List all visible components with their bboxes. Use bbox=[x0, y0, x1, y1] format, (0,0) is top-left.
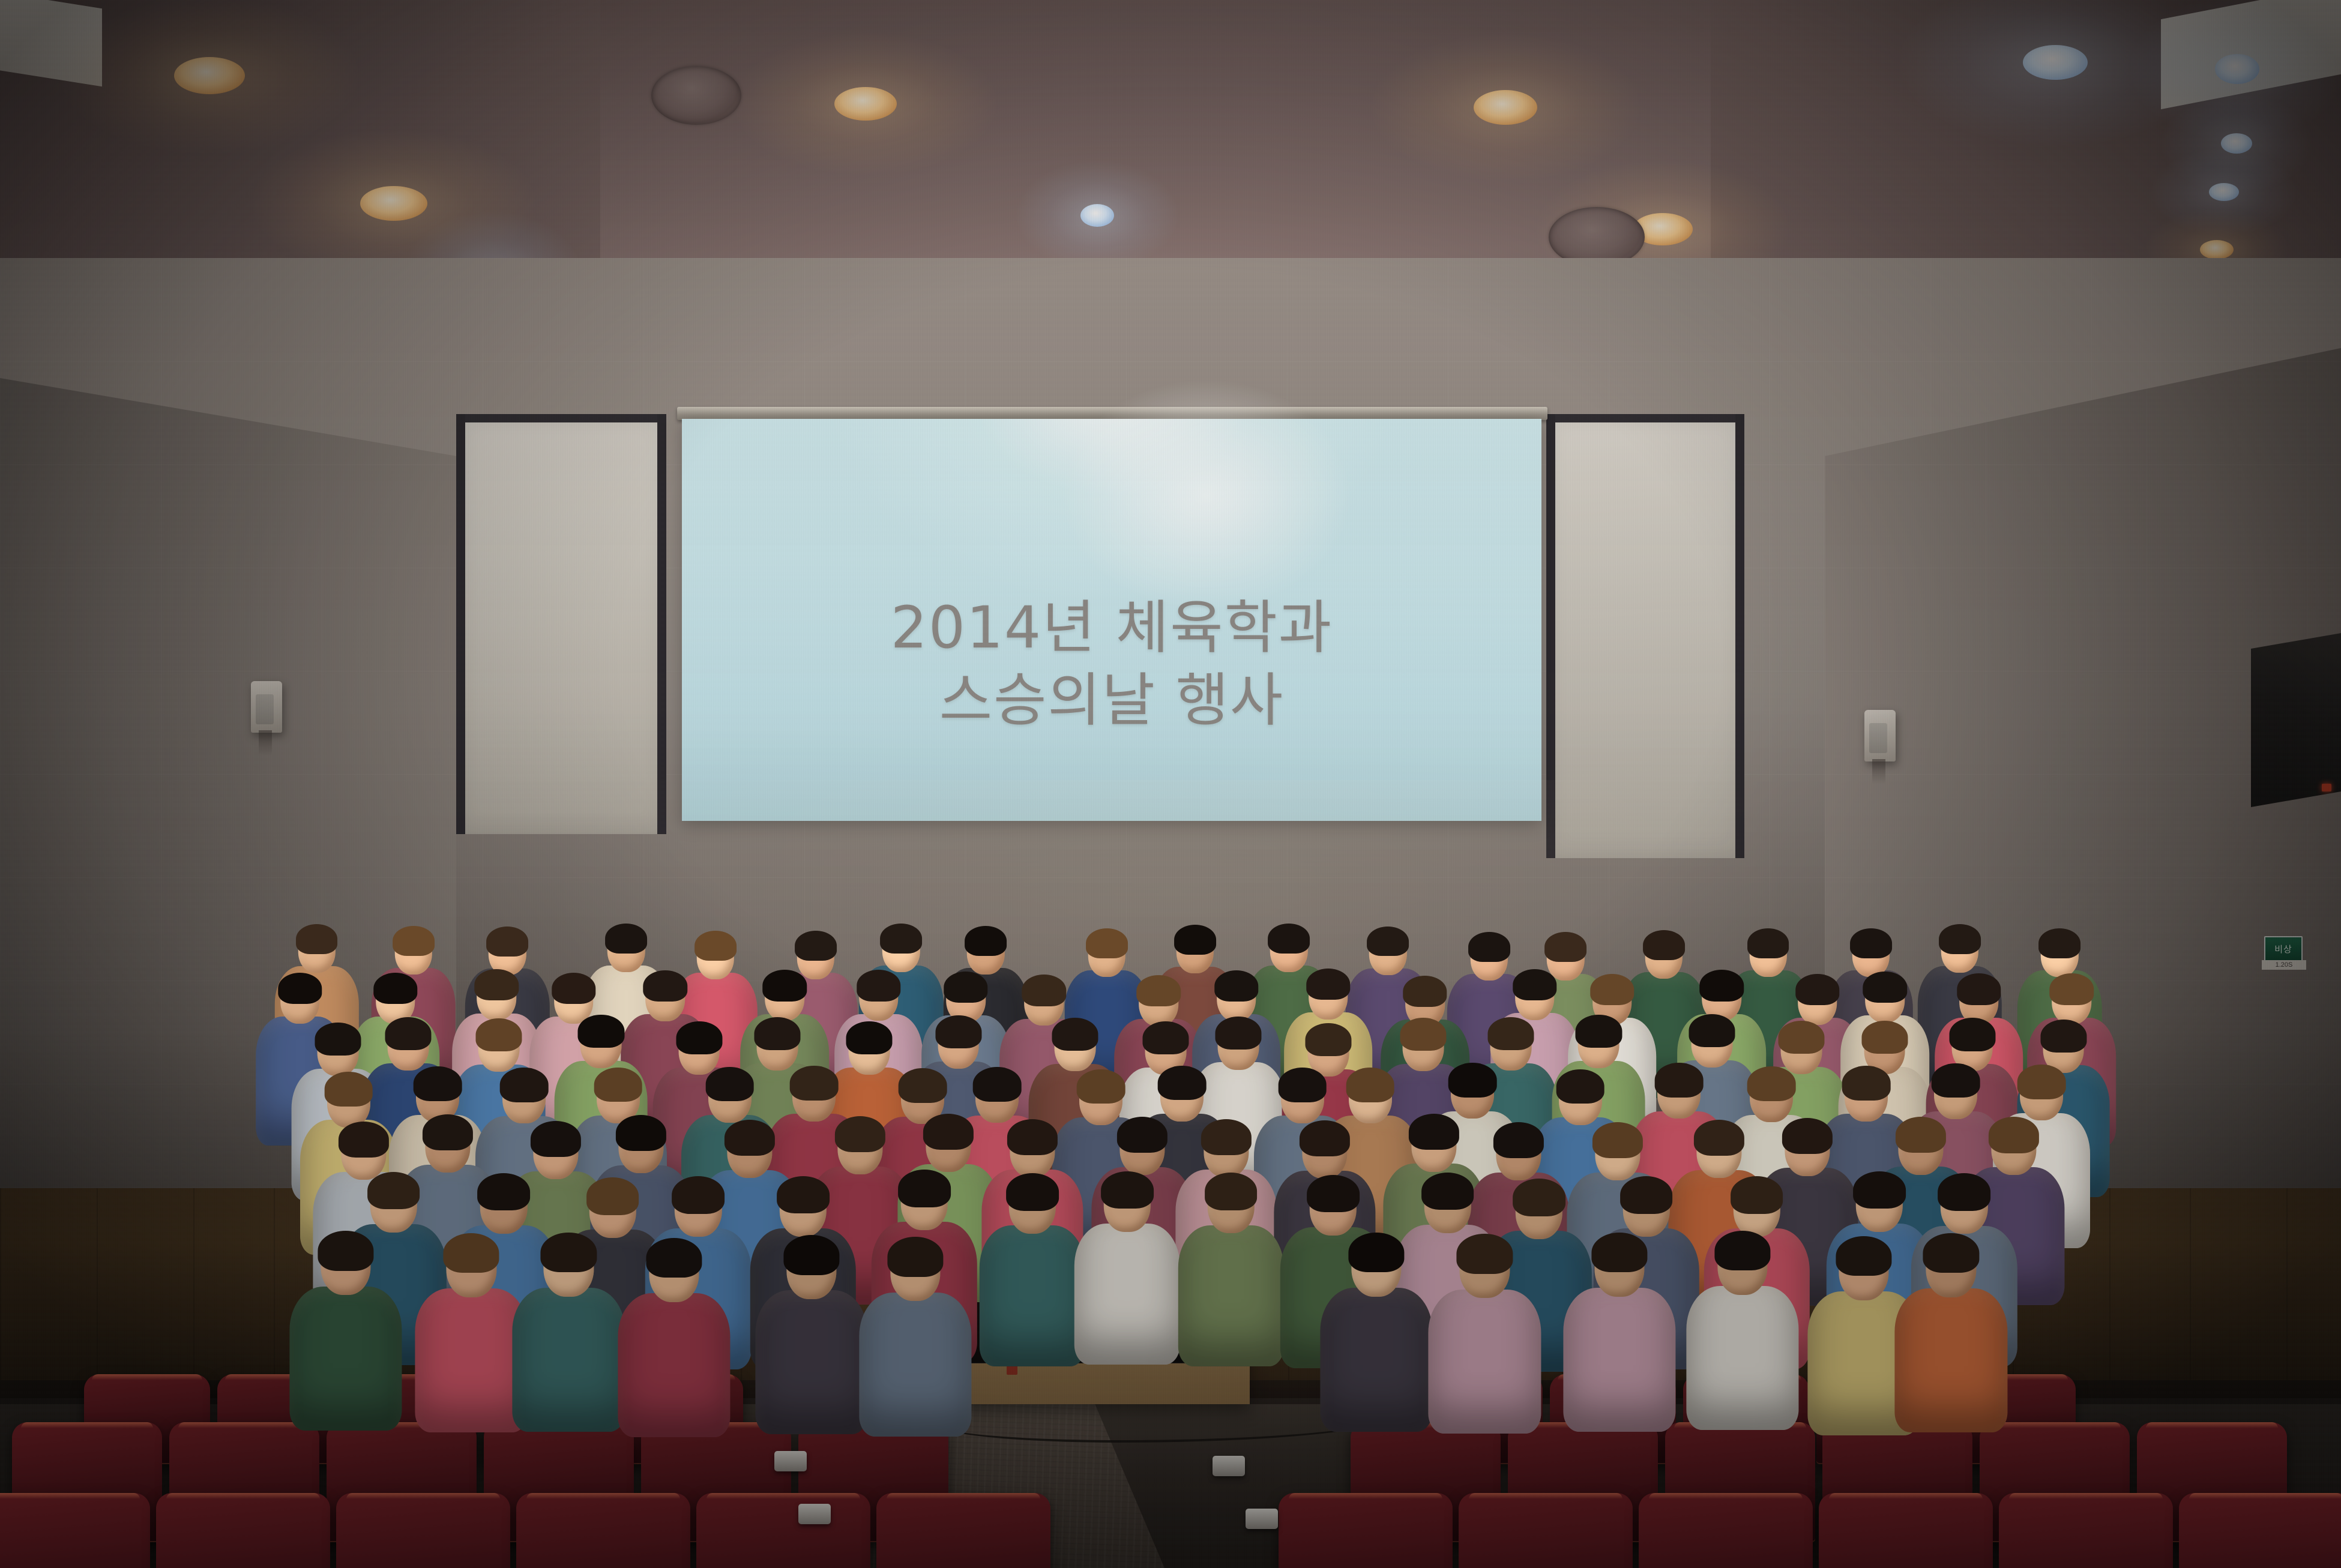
person-hair bbox=[1300, 1120, 1350, 1156]
person-hair bbox=[1592, 1122, 1642, 1158]
person-hair bbox=[646, 1238, 702, 1278]
person bbox=[289, 1233, 402, 1377]
person-hair bbox=[1513, 1179, 1565, 1216]
person-hair bbox=[1346, 1068, 1394, 1102]
person-hair bbox=[1488, 1017, 1534, 1050]
person-torso bbox=[1429, 1290, 1541, 1434]
person-hair bbox=[541, 1233, 597, 1273]
auditorium-seat[interactable] bbox=[1639, 1493, 1813, 1568]
person-hair bbox=[1850, 928, 1892, 958]
person-hair bbox=[393, 926, 435, 956]
auditorium-seat[interactable] bbox=[0, 1493, 150, 1568]
person-torso bbox=[860, 1293, 972, 1437]
person-hair bbox=[2017, 1065, 2066, 1099]
projection-screen-roller bbox=[677, 407, 1547, 420]
ceiling-downlight-1 bbox=[174, 57, 245, 94]
person-hair bbox=[923, 1114, 974, 1150]
person-hair bbox=[857, 970, 900, 1001]
person-hair bbox=[1214, 970, 1258, 1002]
person bbox=[980, 1175, 1085, 1316]
slide-line-2: 스승의날 행사 bbox=[682, 665, 1541, 736]
person-hair bbox=[1836, 1236, 1891, 1276]
person bbox=[755, 1237, 867, 1381]
downlight-core bbox=[2023, 45, 2088, 80]
person-hair bbox=[1655, 1063, 1704, 1098]
person-hair bbox=[643, 970, 687, 1002]
person-hair bbox=[586, 1177, 639, 1215]
person-hair bbox=[1201, 1119, 1252, 1155]
person-hair bbox=[476, 1018, 522, 1051]
person bbox=[860, 1239, 972, 1383]
person-torso bbox=[755, 1290, 867, 1434]
person-hair bbox=[2040, 1020, 2086, 1053]
person-hair bbox=[1863, 972, 1906, 1003]
person-hair bbox=[1896, 1117, 1946, 1153]
ceiling-downlight-17 bbox=[2209, 183, 2239, 201]
person-hair bbox=[725, 1120, 775, 1156]
person-hair bbox=[318, 1231, 373, 1271]
person-hair bbox=[414, 1066, 462, 1101]
ceiling-downlight-14 bbox=[2023, 45, 2088, 80]
person-hair bbox=[795, 931, 837, 961]
person bbox=[1429, 1236, 1541, 1380]
person-hair bbox=[888, 1237, 944, 1277]
person-hair bbox=[385, 1017, 431, 1050]
person-hair bbox=[935, 1015, 981, 1048]
person-hair bbox=[672, 1176, 725, 1214]
seat-armrest bbox=[798, 1504, 831, 1524]
person-hair bbox=[1077, 1069, 1125, 1104]
person-hair bbox=[1592, 1233, 1648, 1273]
person-hair bbox=[1400, 1018, 1446, 1051]
person-hair bbox=[1513, 969, 1556, 1000]
seat-armrest bbox=[774, 1451, 807, 1471]
person-hair bbox=[605, 924, 647, 954]
person-hair bbox=[1699, 970, 1743, 1001]
person-hair bbox=[1747, 928, 1789, 958]
person-hair bbox=[846, 1021, 892, 1054]
person-hair bbox=[324, 1072, 373, 1107]
person-hair bbox=[1142, 1021, 1189, 1054]
person-hair bbox=[1348, 1233, 1404, 1273]
person-hair bbox=[315, 1023, 361, 1056]
person-hair bbox=[1689, 1014, 1735, 1047]
person-hair bbox=[1367, 927, 1409, 957]
ceiling-downlight-7 bbox=[1080, 204, 1114, 227]
person-hair bbox=[531, 1121, 581, 1157]
person-hair bbox=[694, 931, 737, 961]
person-hair bbox=[1136, 975, 1180, 1006]
person-hair bbox=[616, 1115, 666, 1151]
person-hair bbox=[552, 973, 595, 1004]
person-hair bbox=[1620, 1176, 1673, 1214]
person-hair bbox=[478, 1173, 531, 1211]
person-hair bbox=[1086, 928, 1128, 958]
person-hair bbox=[1457, 1234, 1513, 1274]
downlight-core bbox=[834, 87, 897, 121]
downlight-core bbox=[360, 186, 427, 221]
person-hair bbox=[1409, 1114, 1459, 1150]
person-hair bbox=[1556, 1069, 1604, 1104]
ceiling-downlight-15 bbox=[2215, 54, 2259, 84]
person-hair bbox=[754, 1017, 800, 1050]
person-hair bbox=[1939, 924, 1981, 954]
auditorium-seat[interactable] bbox=[336, 1493, 510, 1568]
ceiling-downlight-10 bbox=[1474, 90, 1537, 125]
person-hair bbox=[1842, 1066, 1891, 1101]
person-hair bbox=[1989, 1117, 2039, 1153]
seat-armrest bbox=[1213, 1456, 1245, 1476]
person-torso bbox=[415, 1288, 528, 1432]
person-hair bbox=[762, 970, 806, 1001]
person-torso bbox=[1564, 1288, 1676, 1432]
person-hair bbox=[578, 1015, 624, 1048]
person-torso bbox=[1074, 1224, 1180, 1365]
person-hair bbox=[1174, 925, 1216, 955]
person-hair bbox=[500, 1068, 549, 1102]
auditorium-seat[interactable] bbox=[1819, 1493, 1993, 1568]
person-hair bbox=[1006, 1173, 1059, 1211]
person-hair bbox=[1205, 1173, 1258, 1210]
downlight-core bbox=[174, 57, 245, 94]
person-hair bbox=[1403, 976, 1447, 1007]
downlight-core bbox=[2200, 240, 2234, 259]
person-torso bbox=[513, 1288, 625, 1432]
person-hair bbox=[1938, 1173, 1990, 1211]
person-hair bbox=[1643, 930, 1685, 960]
person-hair bbox=[1215, 1017, 1261, 1050]
projection-screen: 2014년 체육학과 스승의날 행사 bbox=[682, 419, 1541, 821]
person-torso bbox=[618, 1293, 730, 1437]
downlight-core bbox=[1474, 90, 1537, 125]
ceiling-downlight-2 bbox=[360, 186, 427, 221]
person-torso bbox=[1178, 1225, 1283, 1366]
person-hair bbox=[1861, 1021, 1908, 1054]
person-hair bbox=[1544, 932, 1586, 962]
person-hair bbox=[1731, 1176, 1783, 1214]
person-torso bbox=[289, 1287, 402, 1431]
person-torso bbox=[980, 1225, 1085, 1366]
group-photo-crowd bbox=[0, 780, 2341, 1404]
person-hair bbox=[1101, 1171, 1154, 1209]
person-hair bbox=[373, 973, 417, 1004]
person-hair bbox=[676, 1021, 722, 1054]
person-hair bbox=[973, 1067, 1022, 1102]
person-hair bbox=[880, 924, 922, 954]
person-hair bbox=[899, 1068, 947, 1103]
person-hair bbox=[1268, 924, 1310, 954]
projected-slide-text: 2014년 체육학과 스승의날 행사 bbox=[682, 593, 1541, 736]
auditorium-seat[interactable] bbox=[516, 1493, 690, 1568]
auditorium-seat[interactable] bbox=[1459, 1493, 1633, 1568]
person bbox=[1687, 1233, 1799, 1377]
person-hair bbox=[278, 973, 322, 1004]
seat-armrest bbox=[1246, 1509, 1278, 1529]
person-hair bbox=[1715, 1231, 1771, 1271]
panel-trim-top-right bbox=[1546, 414, 1744, 422]
auditorium-seat[interactable] bbox=[156, 1493, 330, 1568]
person-hair bbox=[2050, 973, 2094, 1005]
person-hair bbox=[444, 1233, 499, 1273]
person-hair bbox=[1307, 1175, 1360, 1213]
person-hair bbox=[1590, 974, 1634, 1005]
panel-trim-right-left bbox=[657, 414, 666, 834]
person-hair bbox=[944, 972, 987, 1003]
panel-trim-top-left bbox=[456, 414, 666, 422]
person bbox=[1178, 1174, 1283, 1315]
person-hair bbox=[296, 924, 338, 954]
person bbox=[1564, 1234, 1676, 1378]
person-torso bbox=[1687, 1286, 1799, 1430]
person-hair bbox=[1795, 974, 1839, 1005]
auditorium-seat[interactable] bbox=[1999, 1493, 2173, 1568]
person-hair bbox=[1305, 1023, 1351, 1056]
person-hair bbox=[1782, 1118, 1832, 1154]
person-hair bbox=[783, 1235, 839, 1275]
auditorium-seat[interactable] bbox=[876, 1493, 1050, 1568]
ceiling-downlight-18 bbox=[2200, 240, 2234, 259]
person-hair bbox=[1853, 1171, 1906, 1209]
person-hair bbox=[339, 1122, 389, 1158]
person-hair bbox=[1468, 932, 1510, 962]
panel-trim-left-left bbox=[456, 414, 465, 834]
ceiling-downlight-6 bbox=[834, 87, 897, 121]
person-hair bbox=[475, 969, 519, 1000]
person-hair bbox=[1007, 1119, 1058, 1155]
wall-speaker-right bbox=[1864, 710, 1896, 761]
person-hair bbox=[835, 1116, 885, 1152]
person-hair bbox=[1448, 1063, 1497, 1098]
person-hair bbox=[1117, 1117, 1167, 1153]
person-hair bbox=[965, 926, 1007, 956]
person bbox=[1074, 1173, 1180, 1314]
person-hair bbox=[367, 1172, 420, 1210]
person-hair bbox=[1694, 1120, 1744, 1156]
person-hair bbox=[594, 1068, 642, 1102]
ceiling-downlight-16 bbox=[2221, 133, 2252, 154]
person-hair bbox=[423, 1114, 473, 1150]
person bbox=[415, 1235, 528, 1379]
wall-panel-left bbox=[456, 414, 666, 834]
person-hair bbox=[1957, 973, 2001, 1005]
person-torso bbox=[1895, 1288, 2007, 1432]
person-hair bbox=[1949, 1018, 1995, 1051]
auditorium-seat[interactable] bbox=[696, 1493, 870, 1568]
person-hair bbox=[486, 927, 528, 957]
person-hair bbox=[2038, 928, 2080, 958]
auditorium-seat[interactable] bbox=[2179, 1493, 2341, 1568]
downlight-core bbox=[1080, 204, 1114, 227]
downlight-core bbox=[2215, 54, 2259, 84]
person-hair bbox=[1779, 1021, 1825, 1054]
person-hair bbox=[1279, 1068, 1327, 1102]
person-hair bbox=[1052, 1018, 1098, 1051]
person-hair bbox=[705, 1067, 754, 1102]
person-hair bbox=[1158, 1066, 1207, 1101]
slide-line-1: 2014년 체육학과 bbox=[682, 593, 1541, 663]
person-hair bbox=[1923, 1233, 1979, 1273]
person-hair bbox=[1576, 1015, 1622, 1048]
person-hair bbox=[1747, 1066, 1796, 1101]
person-hair bbox=[1493, 1122, 1543, 1158]
auditorium-photo: 2014년 체육학과 스승의날 행사 비상 1.20S bbox=[0, 0, 2341, 1568]
person-hair bbox=[790, 1066, 839, 1101]
ceiling-air-diffuser-1 bbox=[651, 66, 741, 125]
auditorium-seat[interactable] bbox=[1279, 1493, 1453, 1568]
person-hair bbox=[898, 1170, 951, 1207]
person bbox=[618, 1240, 730, 1384]
wall-speaker-left bbox=[251, 681, 282, 733]
downlight-core bbox=[2209, 183, 2239, 201]
person-hair bbox=[1306, 969, 1350, 1000]
person bbox=[1895, 1235, 2007, 1379]
person bbox=[1320, 1234, 1432, 1378]
person-hair bbox=[1932, 1063, 1980, 1098]
person-hair bbox=[1421, 1173, 1474, 1210]
downlight-core bbox=[2221, 133, 2252, 154]
person bbox=[513, 1234, 625, 1378]
person-hair bbox=[777, 1176, 830, 1214]
person-hair bbox=[1022, 975, 1066, 1006]
person-torso bbox=[1320, 1288, 1432, 1432]
